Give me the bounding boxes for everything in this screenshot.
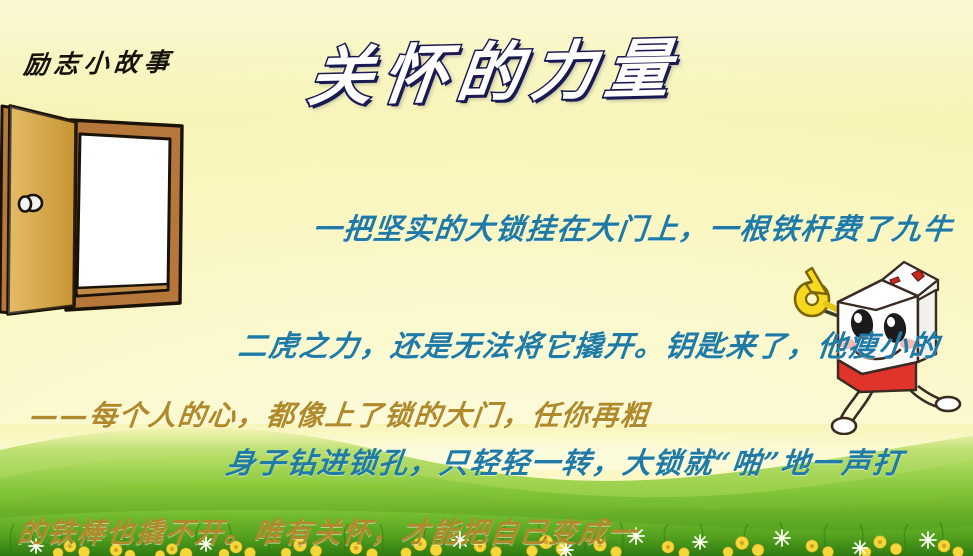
moral-paragraph: ——每个人的心，都像上了锁的大门，任你再粗 的铁棒也撬不开。唯有关怀，才能把自己… [0,318,761,556]
poster-canvas: 励志小故事 关怀的力量 一把坚实的大锁挂在大门上，一根铁杆费了九牛 二虎之力，还… [0,0,973,556]
door-knob-icon [19,195,42,212]
open-door-illustration [0,98,205,323]
moral-line-2: 的铁棒也撬不开。唯有关怀，才能把自己变成一 [16,513,740,552]
story-line-1: 一把坚实的大锁挂在大门上，一根铁杆费了九牛 [248,210,973,249]
moral-line-1: ——每个人的心，都像上了锁的大门，任你再粗 [28,396,752,435]
category-label: 励志小故事 [22,42,176,81]
page-title: 关怀的力量 [304,17,686,118]
